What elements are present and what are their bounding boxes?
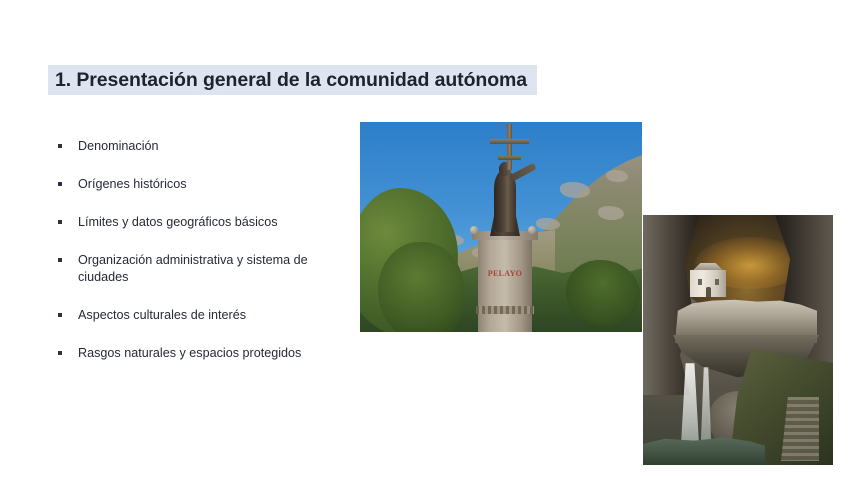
- pedestal-orb: [528, 226, 536, 234]
- list-item: Organización administrativa y sistema de…: [57, 252, 357, 286]
- list-item-label: Rasgos naturales y espacios protegidos: [78, 345, 357, 362]
- list-item-label: Organización administrativa y sistema de…: [78, 252, 357, 286]
- list-item: Rasgos naturales y espacios protegidos: [57, 345, 357, 362]
- statue-of-pelayo-photo: PELAYO: [360, 122, 642, 332]
- slide-canvas: 1. Presentación general de la comunidad …: [0, 0, 848, 477]
- rock-crag: [560, 182, 590, 198]
- pedestal-orb: [470, 226, 478, 234]
- chapel-window: [698, 279, 702, 285]
- square-bullet-icon: [58, 220, 62, 224]
- pedestal-frieze: [476, 306, 534, 314]
- pedestal-inscription: PELAYO: [478, 269, 532, 278]
- chapel-window: [715, 279, 719, 285]
- list-item: Límites y datos geográficos básicos: [57, 214, 357, 231]
- list-item-label: Denominación: [78, 138, 357, 155]
- statue-pedestal: [478, 236, 532, 332]
- victory-cross-lower-bar: [498, 156, 521, 160]
- tree-foliage-right: [566, 260, 640, 326]
- square-bullet-icon: [58, 313, 62, 317]
- square-bullet-icon: [58, 258, 62, 262]
- square-bullet-icon: [58, 351, 62, 355]
- list-item: Aspectos culturales de interés: [57, 307, 357, 324]
- victory-cross-vertical: [507, 124, 512, 170]
- square-bullet-icon: [58, 182, 62, 186]
- santa-cueva-covadonga-photo: [643, 215, 833, 465]
- chapel-door: [706, 287, 711, 297]
- bullet-list: Denominación Orígenes históricos Límites…: [57, 138, 357, 362]
- list-item: Orígenes históricos: [57, 176, 357, 193]
- list-item-label: Orígenes históricos: [78, 176, 357, 193]
- tree-foliage-left-lower: [378, 242, 464, 332]
- rock-crag: [536, 218, 560, 230]
- page-title: 1. Presentación general de la comunidad …: [55, 64, 545, 96]
- rock-crag: [606, 170, 628, 182]
- rock-crag: [598, 206, 624, 220]
- square-bullet-icon: [58, 144, 62, 148]
- list-item: Denominación: [57, 138, 357, 155]
- list-item-label: Límites y datos geográficos básicos: [78, 214, 357, 231]
- victory-cross-horizontal: [490, 139, 529, 144]
- list-item-label: Aspectos culturales de interés: [78, 307, 357, 324]
